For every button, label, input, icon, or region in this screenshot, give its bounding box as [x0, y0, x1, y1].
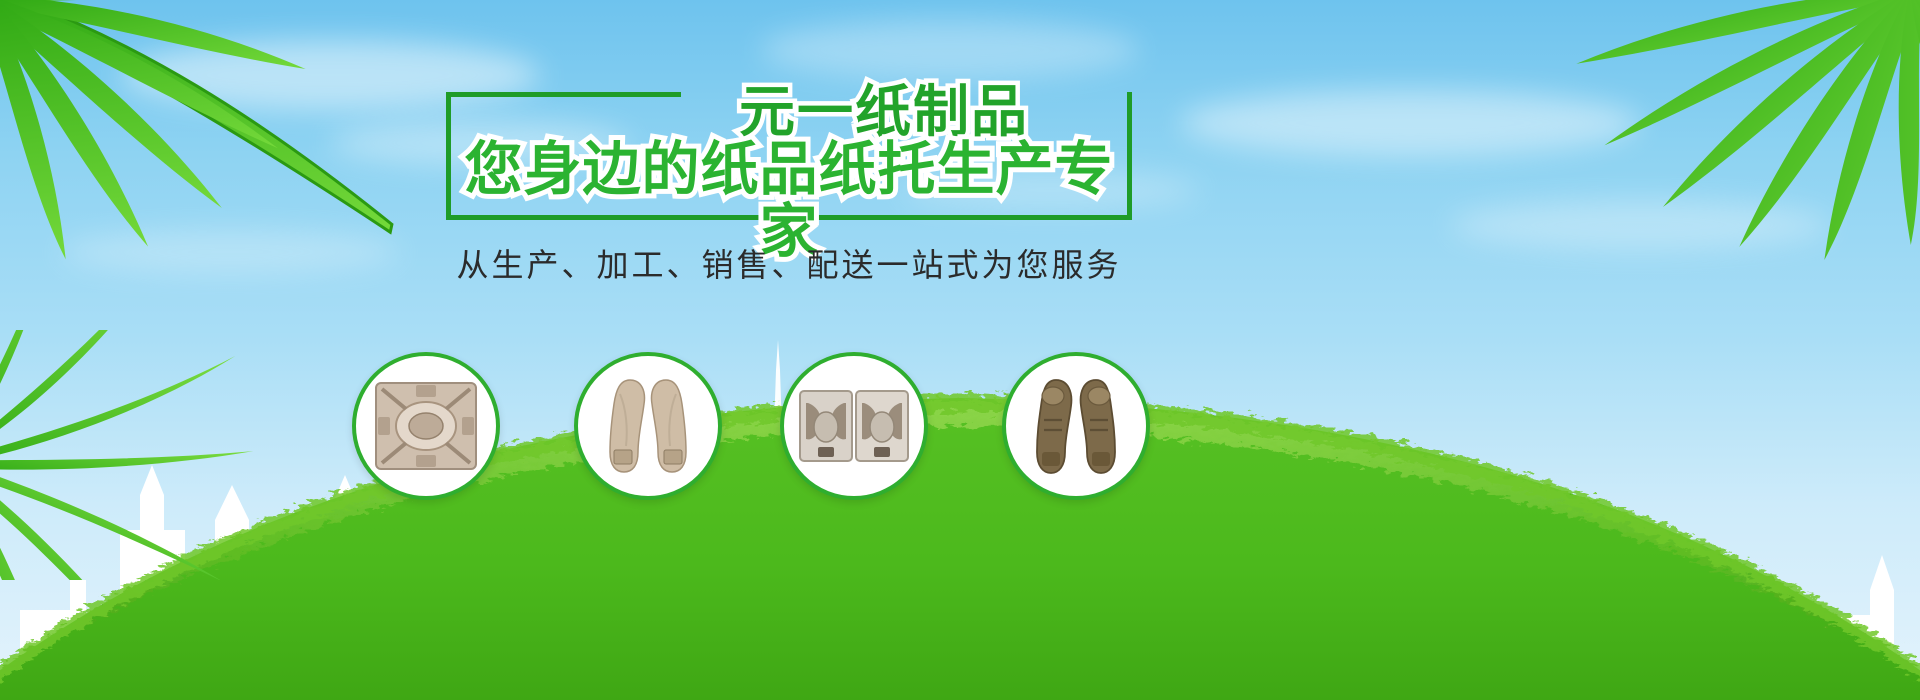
cloud-3: [760, 20, 1140, 80]
product-circle-1[interactable]: 方形纸浆模塑托盘: [352, 352, 500, 500]
headline-line-1: 元一纸制品: [446, 84, 1132, 142]
paper-pulp-insole-pair-image: [600, 374, 696, 478]
palm-frond-top-left-icon: [0, 0, 520, 300]
paper-pulp-shoe-tree-pair-image: [1028, 374, 1124, 478]
product-circle-3[interactable]: 双格纸浆模塑内托: [780, 352, 928, 500]
banner-subtitle: 从生产、加工、销售、配送一站式为您服务: [446, 240, 1132, 286]
palm-frond-bottom-left-icon: [0, 330, 360, 580]
promo-banner: 元一纸制品 您身边的纸品纸托生产专家 从生产、加工、销售、配送一站式为您服务: [0, 0, 1920, 700]
paper-pulp-square-tray-image: [372, 379, 480, 473]
paper-pulp-double-tray-image: [798, 387, 910, 465]
headline-text-block: 元一纸制品 您身边的纸品纸托生产专家: [446, 84, 1132, 262]
product-thumbnail-row: 方形纸浆模塑托盘 纸浆模塑鞋垫一对: [352, 352, 1168, 504]
product-circle-4[interactable]: 深色纸浆鞋撑一对: [1002, 352, 1150, 500]
palm-frond-top-right-icon: [1350, 0, 1920, 300]
product-circle-2[interactable]: 纸浆模塑鞋垫一对: [574, 352, 722, 500]
